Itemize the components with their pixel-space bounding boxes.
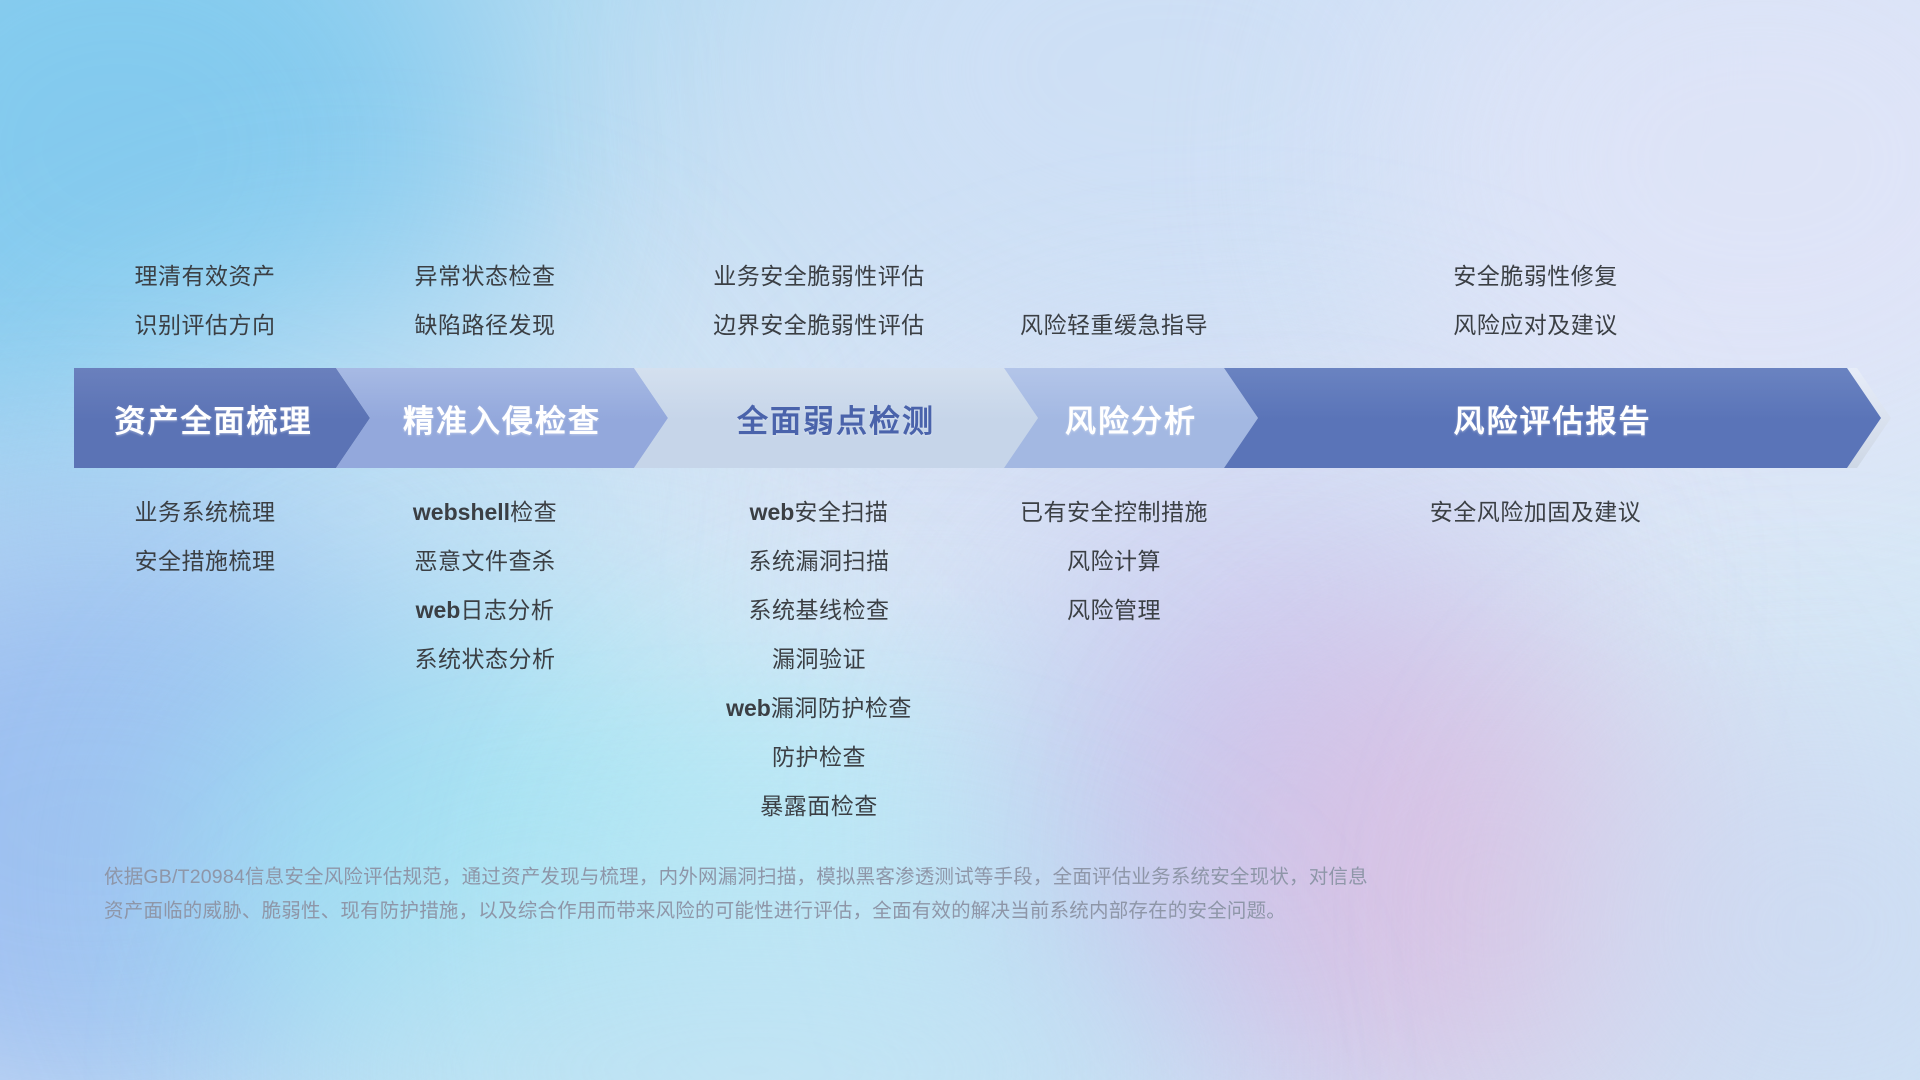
stage-output-text: 安全风险加固及建议 xyxy=(1430,499,1642,525)
stage-outputs-asset-inventory: 业务系统梳理安全措施梳理 xyxy=(74,468,336,586)
stage-output-text: 暴露面检查 xyxy=(760,793,878,819)
stage-output-text: 风险管理 xyxy=(1067,597,1161,623)
stage-output-text: 防护检查 xyxy=(772,744,866,770)
stage-inputs-intrusion-check: 异常状态检查缺陷路径发现 xyxy=(336,252,634,368)
stage-output-item: 安全风险加固及建议 xyxy=(1224,488,1847,537)
stage-inputs-risk-analysis: 风险轻重缓急指导 xyxy=(1004,301,1224,368)
stage-output-item: 漏洞验证 xyxy=(634,635,1004,684)
process-step-weakness-detection[interactable]: 全面弱点检测 xyxy=(634,368,1038,468)
stage-output-text: 恶意文件查杀 xyxy=(415,548,556,574)
stage-input-item: 业务安全脆弱性评估 xyxy=(634,252,1004,301)
stage-output-item: 暴露面检查 xyxy=(634,782,1004,831)
stage-output-term: web xyxy=(416,597,461,623)
footer-description: 依据GB/T20984信息安全风险评估规范，通过资产发现与梳理，内外网漏洞扫描，… xyxy=(104,860,1604,928)
process-step-label: 全面弱点检测 xyxy=(737,396,935,441)
process-step-label: 资产全面梳理 xyxy=(115,396,313,441)
stage-output-term: web xyxy=(726,695,771,721)
stage-output-item: 恶意文件查杀 xyxy=(336,537,634,586)
process-step-label: 精准入侵检查 xyxy=(403,396,601,441)
stage-outputs-risk-analysis: 已有安全控制措施风险计算风险管理 xyxy=(1004,468,1224,635)
stage-output-item: 风险管理 xyxy=(1004,586,1224,635)
process-arrow-band: 资产全面梳理精准入侵检查全面弱点检测风险分析风险评估报告 xyxy=(74,368,1847,468)
stage-output-text: 安全措施梳理 xyxy=(135,548,276,574)
stage-output-item: webshell检查 xyxy=(336,488,634,537)
slide-canvas: 资产全面梳理精准入侵检查全面弱点检测风险分析风险评估报告 理清有效资产识别评估方… xyxy=(0,0,1920,1080)
stage-input-item: 风险应对及建议 xyxy=(1224,301,1847,350)
stage-output-text: 检查 xyxy=(510,499,557,525)
process-step-intrusion-check[interactable]: 精准入侵检查 xyxy=(336,368,668,468)
stage-inputs-asset-inventory: 理清有效资产识别评估方向 xyxy=(74,252,336,368)
stage-input-item: 缺陷路径发现 xyxy=(336,301,634,350)
stage-output-item: 系统状态分析 xyxy=(336,635,634,684)
stage-input-item: 风险轻重缓急指导 xyxy=(1004,301,1224,350)
stage-output-item: 业务系统梳理 xyxy=(74,488,336,537)
process-step-risk-analysis[interactable]: 风险分析 xyxy=(1004,368,1258,468)
stage-input-item: 边界安全脆弱性评估 xyxy=(634,301,1004,350)
stage-output-item: web日志分析 xyxy=(336,586,634,635)
stage-output-item: 系统漏洞扫描 xyxy=(634,537,1004,586)
stage-output-text: 已有安全控制措施 xyxy=(1020,499,1208,525)
footer-line-1: 依据GB/T20984信息安全风险评估规范，通过资产发现与梳理，内外网漏洞扫描，… xyxy=(104,860,1604,894)
stage-output-item: web安全扫描 xyxy=(634,488,1004,537)
stage-output-text: 日志分析 xyxy=(460,597,554,623)
footer-line-2: 资产面临的威胁、脆弱性、现有防护措施，以及综合作用而带来风险的可能性进行评估，全… xyxy=(104,894,1604,928)
stage-output-text: 系统基线检查 xyxy=(749,597,890,623)
process-step-label: 风险评估报告 xyxy=(1454,396,1652,441)
stage-output-item: web漏洞防护检查 xyxy=(634,684,1004,733)
stage-output-item: 风险计算 xyxy=(1004,537,1224,586)
stage-output-term: web xyxy=(750,499,795,525)
stage-input-item: 异常状态检查 xyxy=(336,252,634,301)
stage-inputs-assessment-report: 安全脆弱性修复风险应对及建议 xyxy=(1224,252,1847,368)
stage-output-item: 安全措施梳理 xyxy=(74,537,336,586)
stage-output-item: 已有安全控制措施 xyxy=(1004,488,1224,537)
stage-output-text: 系统状态分析 xyxy=(415,646,556,672)
stage-output-item: 防护检查 xyxy=(634,733,1004,782)
stage-outputs-assessment-report: 安全风险加固及建议 xyxy=(1224,468,1847,537)
stage-output-text: 系统漏洞扫描 xyxy=(749,548,890,574)
stage-outputs-intrusion-check: webshell检查恶意文件查杀web日志分析系统状态分析 xyxy=(336,468,634,684)
process-step-label: 风险分析 xyxy=(1065,396,1197,441)
stage-input-item: 安全脆弱性修复 xyxy=(1224,252,1847,301)
process-step-assessment-report[interactable]: 风险评估报告 xyxy=(1224,368,1881,468)
stage-output-text: 漏洞验证 xyxy=(772,646,866,672)
stage-input-item: 识别评估方向 xyxy=(74,301,336,350)
stage-output-text: 漏洞防护检查 xyxy=(771,695,912,721)
stage-output-text: 安全扫描 xyxy=(794,499,888,525)
stage-output-text: 风险计算 xyxy=(1067,548,1161,574)
stage-output-item: 系统基线检查 xyxy=(634,586,1004,635)
stage-output-term: webshell xyxy=(413,499,510,525)
stage-input-item: 理清有效资产 xyxy=(74,252,336,301)
stage-output-text: 业务系统梳理 xyxy=(135,499,276,525)
process-step-asset-inventory[interactable]: 资产全面梳理 xyxy=(74,368,370,468)
stage-outputs-weakness-detection: web安全扫描系统漏洞扫描系统基线检查漏洞验证web漏洞防护检查防护检查暴露面检… xyxy=(634,468,1004,831)
stage-inputs-weakness-detection: 业务安全脆弱性评估边界安全脆弱性评估 xyxy=(634,252,1004,368)
